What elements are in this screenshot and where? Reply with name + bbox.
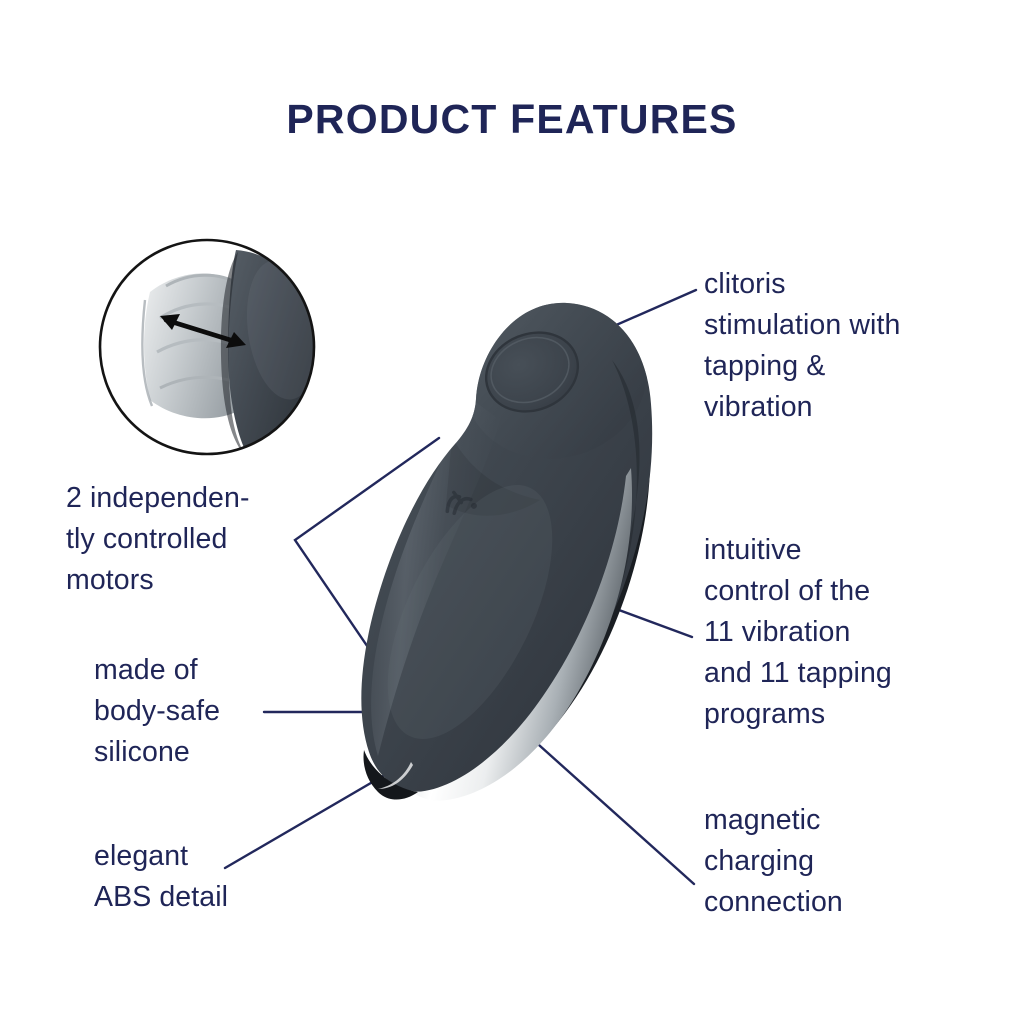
callout-body-safe-silicone: made of body-safe silicone <box>94 650 324 773</box>
motor-detail-inset <box>98 238 325 462</box>
product-features-infographic: PRODUCT FEATURES <box>0 0 1024 1024</box>
product-body <box>354 276 667 801</box>
leader-magnetic <box>520 728 694 884</box>
callout-intuitive-control: intuitive control of the 11 vibration an… <box>704 530 968 735</box>
callout-elegant-abs-detail: elegant ABS detail <box>94 836 324 918</box>
callout-clitoris-stimulation: clitoris stimulation with tapping & vibr… <box>704 264 964 428</box>
callout-independent-motors: 2 independen- tly controlled motors <box>66 478 316 601</box>
callout-magnetic-charging: magnetic charging connection <box>704 800 964 923</box>
